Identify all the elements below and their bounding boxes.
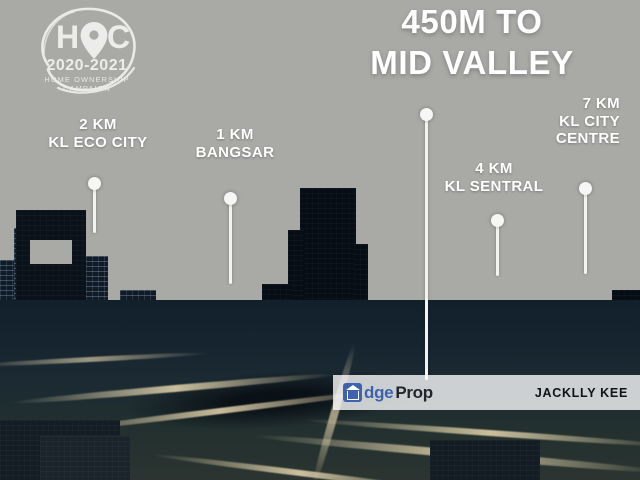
- marker-place-2: CENTRE: [480, 130, 620, 148]
- pin-dot: [420, 108, 433, 121]
- pin-dot: [579, 182, 592, 195]
- marker-label-bangsar: 1 KM BANGSAR: [190, 126, 280, 161]
- hoc-tagline-1: HOME OWNERSHIP: [44, 75, 129, 84]
- hoc-acronym-c: C: [107, 19, 130, 55]
- marker-distance: 4 KM: [435, 160, 553, 178]
- pin-dot: [224, 192, 237, 205]
- building: [430, 440, 540, 480]
- marker-label-kl-sentral: 4 KM KL SENTRAL: [435, 160, 553, 195]
- marker-distance: 1 KM: [190, 126, 280, 144]
- marker-pin-kl-city-centre: [579, 182, 592, 274]
- marker-place: KL CITY: [480, 113, 620, 131]
- marker-distance: 7 KM: [480, 95, 620, 113]
- pin-stem: [425, 114, 428, 380]
- poster-title: 450M TO MID VALLEY: [322, 2, 622, 84]
- marker-place: KL ECO CITY: [48, 134, 148, 152]
- edgeprop-logo[interactable]: dge Prop: [343, 383, 433, 402]
- title-line-1: 450M TO: [322, 2, 622, 43]
- pin-stem: [93, 183, 96, 233]
- hoc-tagline-2: CAMPAIGN: [63, 84, 111, 93]
- map-pin-icon: [81, 22, 108, 59]
- pin-stem: [584, 188, 587, 274]
- marker-pin-mid-valley: [420, 108, 433, 380]
- pin-stem: [496, 220, 499, 276]
- house-icon: [343, 383, 362, 402]
- marker-pin-bangsar: [224, 192, 237, 284]
- edgeprop-wordmark-1: dge: [364, 384, 393, 401]
- house-roof: [346, 385, 360, 390]
- pin-dot: [491, 214, 504, 227]
- house-body: [347, 391, 359, 400]
- hoc-campaign-logo: H C 2020-2021 HOME OWNERSHIP CAMPAIGN: [22, 2, 152, 100]
- property-marketing-poster: H C 2020-2021 HOME OWNERSHIP CAMPAIGN 45…: [0, 0, 640, 480]
- marker-place: BANGSAR: [190, 144, 280, 162]
- footer-banner: dge Prop JACKLLY KEE: [333, 375, 640, 410]
- map-pin-hole: [89, 30, 98, 39]
- marker-pin-kl-eco-city: [88, 177, 101, 233]
- hoc-years: 2020-2021: [46, 57, 127, 74]
- marker-label-kl-city-centre: 7 KM KL CITY CENTRE: [480, 95, 620, 148]
- marker-place: KL SENTRAL: [435, 178, 553, 196]
- hoc-acronym-h: H: [56, 19, 79, 55]
- marker-label-kl-eco-city: 2 KM KL ECO CITY: [48, 116, 148, 151]
- title-line-2: MID VALLEY: [322, 43, 622, 84]
- pin-stem: [229, 198, 232, 284]
- pin-dot: [88, 177, 101, 190]
- marker-pin-kl-sentral: [491, 214, 504, 276]
- building: [40, 436, 130, 480]
- edgeprop-wordmark-2: Prop: [395, 384, 433, 401]
- agent-name: JACKLLY KEE: [535, 386, 628, 400]
- building-gap: [30, 240, 72, 264]
- marker-distance: 2 KM: [48, 116, 148, 134]
